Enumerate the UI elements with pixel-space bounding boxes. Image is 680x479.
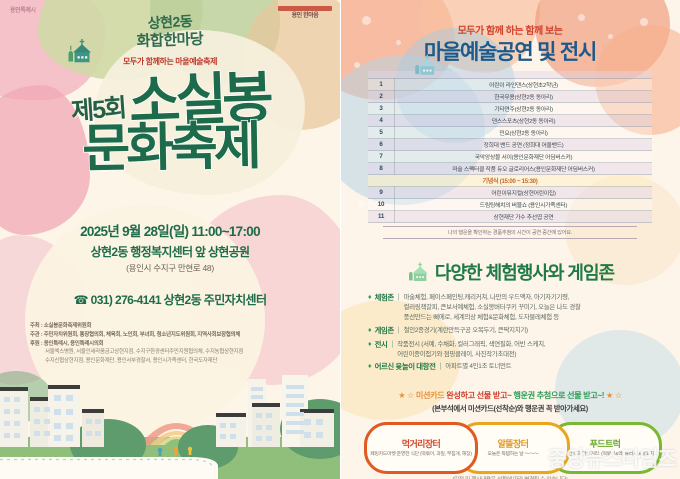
program-no: 3 bbox=[368, 103, 395, 115]
leaf-icon: ♦ bbox=[368, 326, 372, 336]
experience-label: 어르신 윷놀이 대항전 bbox=[375, 362, 436, 373]
promo-block: ★ ☆ 미션카드 완성하고 선물 받고~ 행운권 추첨으로 선물 받고~! ★ … bbox=[356, 389, 664, 414]
experience-body: 마술체험, 페이스페인팅,캐리커쳐, 나만의 우드액자, 아기자기기령, 컬러링… bbox=[404, 293, 581, 323]
leaf-icon: ♦ bbox=[368, 362, 372, 372]
program-no: 6 bbox=[368, 139, 395, 151]
experience-line: 어린이종이접기와 점핑클레이, 사진작가초대전) bbox=[397, 351, 516, 358]
program-name: 정희대 밴드 공연 (정희대 어울밴드) bbox=[395, 139, 653, 151]
experience-line: 작품전시 (서예, 수채화, 컬러그래픽, 색연필화, 어반 스케치, bbox=[397, 341, 545, 348]
left-subtitle-block: 상현2동 화합한마당 모두가 함께하는 마을예술축제 bbox=[12, 14, 328, 69]
program-name: 국악앙상블 서이(용인문화재단 어딤버스커) bbox=[395, 151, 653, 163]
program-no: 5 bbox=[368, 127, 395, 139]
program-ceremony: 기념식 (15:00 ~ 15:30) bbox=[368, 175, 652, 187]
festival-title-sub: 문화축제 bbox=[12, 119, 329, 177]
program-no: 9 bbox=[368, 187, 395, 199]
credit-line: 후원 : 용인특례시, 용인특례시의회 bbox=[30, 340, 328, 349]
program-name: 어린이뮤지컬(상현어린이집) bbox=[395, 187, 653, 199]
program-table-header bbox=[368, 71, 652, 79]
promo-line-2: (본부석에서 미션카드(선착순)와 행운권 꼭 받아가세요) bbox=[356, 403, 664, 414]
event-venue: 상현2동 행정복지센터 앞 상현공원 bbox=[12, 243, 328, 260]
event-address: (용인시 수지구 만현로 48) bbox=[12, 262, 328, 274]
list-item: ♦ 전시 | 작품전시 (서예, 수채화, 컬러그래픽, 색연필화, 어반 스케… bbox=[368, 340, 664, 360]
table-row: 8마술 스펙터클 작품 듀오 글로리어스(용인문화재단 어딤버스커) bbox=[368, 163, 652, 175]
program-no: 7 bbox=[368, 151, 395, 163]
program-title: 마을예술공연 및 전시 bbox=[356, 41, 664, 64]
program-name: 마술 스펙터클 작품 듀오 글로리어스(용인문화재단 어딤버스커) bbox=[395, 163, 653, 175]
table-row: 5민요(상현2동 동아리) bbox=[368, 127, 652, 139]
program-table: 1어린이 라인댄스(상현초2학년) 2한국무용(상현2동 동아리) 3기타연주(… bbox=[368, 71, 652, 223]
leaf-icon: ♦ bbox=[368, 340, 372, 350]
table-row: 6정희대 밴드 공연 (정희대 어울밴드) bbox=[368, 139, 652, 151]
organizer-credits: 주최 : 소실봉문화축제위원회 주관 : 주민자치위원회, 통장협의회, 체육회… bbox=[12, 322, 328, 366]
experience-body: 아파트별 4인1조 토너먼트 bbox=[445, 362, 511, 372]
experience-title: 다양한 체험행사와 게임존 bbox=[435, 259, 614, 285]
program-name: 상현재단 가수 추선엽 공연 bbox=[395, 211, 653, 223]
promo-line-1: ★ ☆ 미션카드 완성하고 선물 받고~ 행운권 추첨으로 선물 받고~! ★ … bbox=[356, 389, 664, 401]
subtitle-line-3: 모두가 함께하는 마을예술축제 bbox=[123, 56, 217, 67]
experience-list: ♦ 체험존 | 마술체험, 페이스페인팅,캐리커쳐, 나만의 우드액자, 아기자… bbox=[356, 293, 664, 373]
program-name: 민요(상현2동 동아리) bbox=[395, 127, 653, 139]
experience-label: 체험존 bbox=[375, 293, 394, 304]
program-no: 1 bbox=[368, 79, 395, 91]
list-item: ♦ 체험존 | 마술체험, 페이스페인팅,캐리커쳐, 나만의 우드액자, 아기자… bbox=[368, 293, 664, 323]
experience-line: 마술체험, 페이스페인팅,캐리커쳐, 나만의 우드액자, 아기자기기령, bbox=[404, 294, 570, 301]
credit-line: 수지신협상현지점, 용인문화재단, 용인서부경찰서, 용인시가족센터, 한국도자… bbox=[30, 357, 328, 366]
experience-line: 철인2종경기(계란만득구공 오목두기, 큰딱지치기) bbox=[404, 327, 528, 334]
promo-text-a: 완성하고 선물 받고~ bbox=[446, 391, 513, 400]
bg-dot bbox=[578, 14, 585, 21]
program-name: 댄스스포츠(상현2동 동아리) bbox=[395, 115, 653, 127]
cityscape-illustration bbox=[0, 367, 340, 479]
church-icon bbox=[406, 260, 430, 284]
separator: | bbox=[439, 362, 441, 372]
table-row: 1어린이 라인댄스(상현초2학년) bbox=[368, 79, 652, 91]
list-item: ♦ 게임존 | 철인2종경기(계란만득구공 오목두기, 큰딱지치기) bbox=[368, 326, 664, 337]
poster-pair: 용인특례시 용인 한마음 상현2동 화합한마당 bbox=[0, 0, 680, 479]
credit-line: 주관 : 주민자치위원회, 통장협의회, 체육회, 노인회, 부녀회, 청소년지… bbox=[30, 331, 328, 340]
program-name: 드림팅해치의 버블쇼 (용인시가족센터) bbox=[395, 199, 653, 211]
experience-label: 전시 bbox=[375, 340, 388, 351]
zone-subtitle: 페밍카드마켓 운영한 식단 (떡볶이, 과일, 부침개, 해장) bbox=[370, 452, 471, 458]
experience-body: 작품전시 (서예, 수채화, 컬러그래픽, 색연필화, 어반 스케치, 어린이종… bbox=[397, 340, 545, 360]
experience-heading: 다양한 체험행사와 게임존 bbox=[356, 259, 664, 285]
zone-title: 알뜰장터 bbox=[498, 437, 529, 450]
program-no: 10 bbox=[368, 199, 395, 211]
experience-line: 아파트별 4인1조 토너먼트 bbox=[445, 363, 511, 370]
zone-food-market: 먹거리장터 페밍카드마켓 운영한 식단 (떡볶이, 과일, 부침개, 해장) bbox=[364, 422, 478, 474]
program-no: 2 bbox=[368, 91, 395, 103]
church-icon bbox=[412, 52, 438, 78]
separator: | bbox=[398, 293, 400, 303]
program-no: 8 bbox=[368, 163, 395, 175]
experience-body: 철인2종경기(계란만득구공 오목두기, 큰딱지치기) bbox=[404, 326, 528, 336]
left-poster-content: 상현2동 화합한마당 모두가 함께하는 마을예술축제 제5회 소실봉 문화축제 … bbox=[0, 14, 340, 366]
credit-line: 서울엑스병원, 서울인세라움금고상현지점, 수지구환경센터주민지원협의체, 수지… bbox=[30, 348, 328, 357]
right-poster: 모두가 함께 하는 함께 보는 마을예술공연 및 전시 1어린이 라인댄스(상현… bbox=[340, 0, 680, 479]
contact-phone: ☎ 031) 276-4141 상현2동 주민자치센터 bbox=[12, 291, 328, 308]
experience-label: 게임존 bbox=[375, 326, 394, 337]
table-row: 3기타연주(상현2동 동아리) bbox=[368, 103, 652, 115]
program-note: 나의 행운을 확인하는 경품추첨의 시간이 공연 중간에 있어요. bbox=[383, 226, 637, 239]
leaf-icon: ♦ bbox=[368, 293, 372, 303]
separator: | bbox=[391, 340, 393, 350]
right-poster-content: 모두가 함께 하는 함께 보는 마을예술공연 및 전시 1어린이 라인댄스(상현… bbox=[340, 22, 680, 479]
program-no: 11 bbox=[368, 211, 395, 223]
event-disclaimer: (일정 및 행사내용은 상황에 따라 변경될 수 있습니다) bbox=[356, 475, 664, 479]
table-row: 7국악앙상블 서이(용인문화재단 어딤버스커) bbox=[368, 151, 652, 163]
table-row: 9어린이뮤지컬(상현어린이집) bbox=[368, 187, 652, 199]
watermark: 중앙뉴스타임즈 bbox=[548, 443, 676, 473]
promo-star-left: ★ ☆ 미션카드 bbox=[398, 391, 446, 400]
table-row: 10드림팅해치의 버블쇼 (용인시가족센터) bbox=[368, 199, 652, 211]
program-eyebrow: 모두가 함께 하는 함께 보는 bbox=[356, 22, 664, 37]
experience-line: 풍선만드는 삐에로, 세계의상 체험&문화체험, 도자물레체험 등 bbox=[404, 314, 559, 321]
list-item: ♦ 어르신 윷놀이 대항전 | 아파트별 4인1조 토너먼트 bbox=[368, 362, 664, 373]
table-row-ceremony: 기념식 (15:00 ~ 15:30) bbox=[368, 175, 652, 187]
program-name: 기타연주(상현2동 동아리) bbox=[395, 103, 653, 115]
program-name: 한국무용(상현2동 동아리) bbox=[395, 91, 653, 103]
table-row: 2한국무용(상현2동 동아리) bbox=[368, 91, 652, 103]
table-row: 11상현재단 가수 추선엽 공연 bbox=[368, 211, 652, 223]
experience-line: 컬러링책갈피, 큰보서예체험, 소실봉버터쿠키 꾸미기, 오늘은 나도 경찰 bbox=[404, 304, 581, 311]
program-name: 어린이 라인댄스(상현초2학년) bbox=[395, 79, 653, 91]
table-row: 4댄스스포츠(상현2동 동아리) bbox=[368, 115, 652, 127]
poster-divider bbox=[340, 0, 341, 479]
left-poster: 용인특례시 용인 한마음 상현2동 화합한마당 bbox=[0, 0, 340, 479]
promo-star-right: ★ ☆ bbox=[606, 391, 622, 400]
credit-line: 주최 : 소실봉문화축제위원회 bbox=[30, 322, 328, 331]
festival-title-block: 제5회 소실봉 문화축제 bbox=[12, 73, 328, 174]
zone-subtitle: 오늘은 득템하는 날 ～～～ bbox=[488, 452, 539, 458]
event-datetime: 2025년 9월 28일(일) 11:00~17:00 bbox=[12, 220, 328, 240]
promo-text-b: 행운권 추첨으로 선물 받고~! bbox=[513, 391, 606, 400]
separator: | bbox=[398, 326, 400, 336]
program-no: 4 bbox=[368, 115, 395, 127]
zone-title: 먹거리장터 bbox=[402, 437, 440, 450]
